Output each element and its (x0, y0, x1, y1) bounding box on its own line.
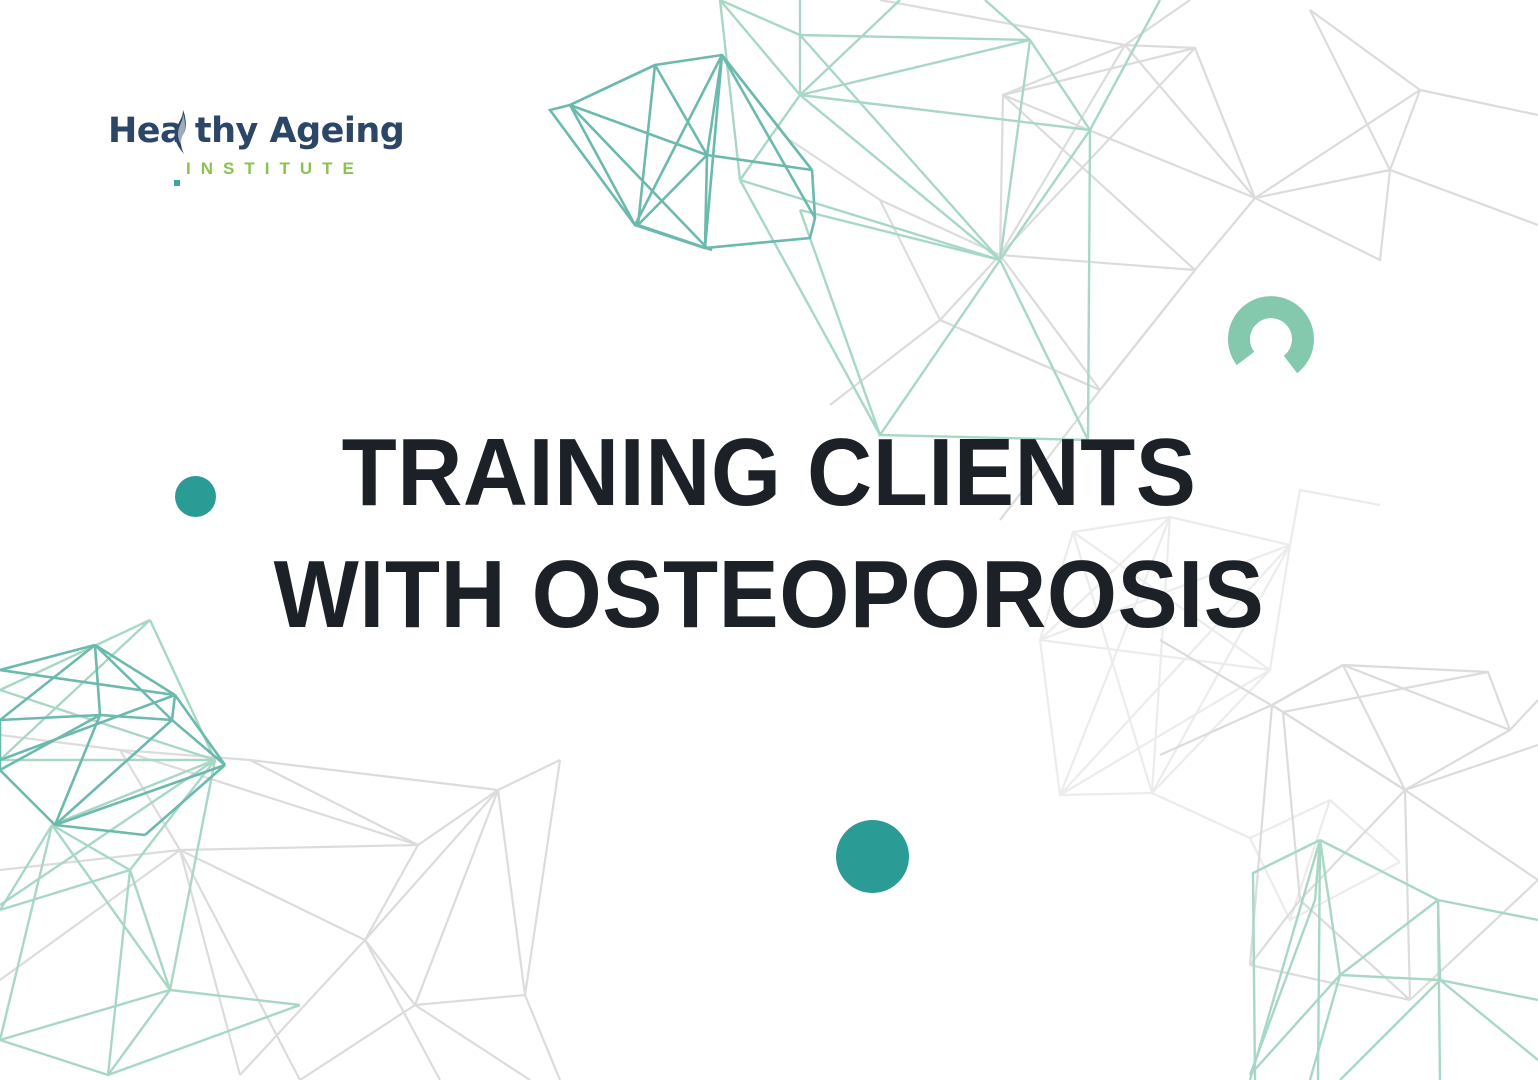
dot-large (836, 820, 909, 893)
page-title: TRAINING CLIENTS WITH OSTEOPOROSIS (0, 412, 1538, 656)
slide-canvas: Hea thy Ageing INSTITUTE TRAINING CLIENT… (0, 0, 1538, 1080)
title-line-2: WITH OSTEOPOROSIS (46, 534, 1492, 656)
logo-subtitle: INSTITUTE (186, 160, 364, 177)
ring-accent-icon (1228, 296, 1314, 382)
logo-wordmark: Hea thy Ageing (108, 114, 404, 149)
healthy-ageing-institute-logo[interactable]: Hea thy Ageing INSTITUTE (108, 114, 358, 194)
title-line-1: TRAINING CLIENTS (46, 412, 1492, 534)
logo-accent-dot (174, 180, 180, 186)
flame-icon (170, 108, 192, 156)
